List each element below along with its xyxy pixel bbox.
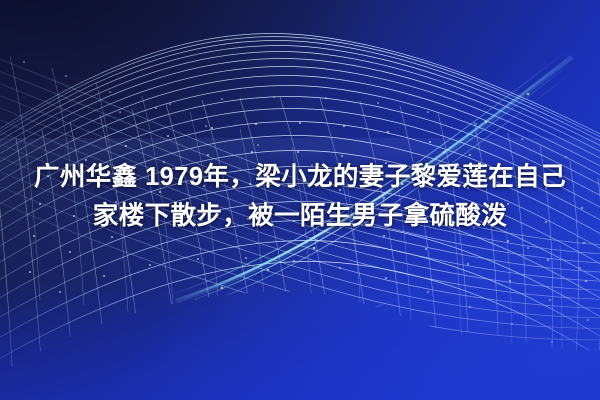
headline-text: 广州华鑫 1979年，梁小龙的妻子黎爱莲在自己 家楼下散步，被一陌生男子拿硫酸泼 xyxy=(0,158,600,236)
mesh-bottom-fade xyxy=(0,280,600,400)
banner-graphic: 广州华鑫 1979年，梁小龙的妻子黎爱莲在自己 家楼下散步，被一陌生男子拿硫酸泼 xyxy=(0,0,600,400)
headline-line-2: 家楼下散步，被一陌生男子拿硫酸泼 xyxy=(0,197,600,236)
headline-line-1: 广州华鑫 1979年，梁小龙的妻子黎爱莲在自己 xyxy=(0,158,600,197)
